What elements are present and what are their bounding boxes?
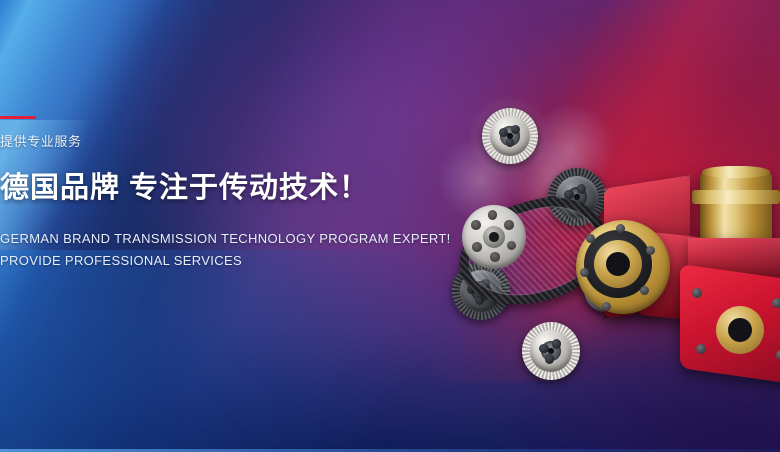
banner-copy: 提供专业服务 德国品牌 专注于传动技术！ GERMAN BRAND TRANSM…	[0, 0, 380, 452]
accent-rule	[0, 116, 36, 119]
banner-subline-en-2: PROVIDE PROFESSIONAL SERVICES	[0, 252, 242, 269]
banner-kicker: 提供专业服务	[0, 134, 82, 150]
banner-headline: 德国品牌 专注于传动技术！	[0, 170, 369, 206]
hero-banner: 提供专业服务 德国品牌 专注于传动技术！ GERMAN BRAND TRANSM…	[0, 0, 780, 452]
banner-subline-en-1: GERMAN BRAND TRANSMISSION TECHNOLOGY PRO…	[0, 230, 451, 247]
